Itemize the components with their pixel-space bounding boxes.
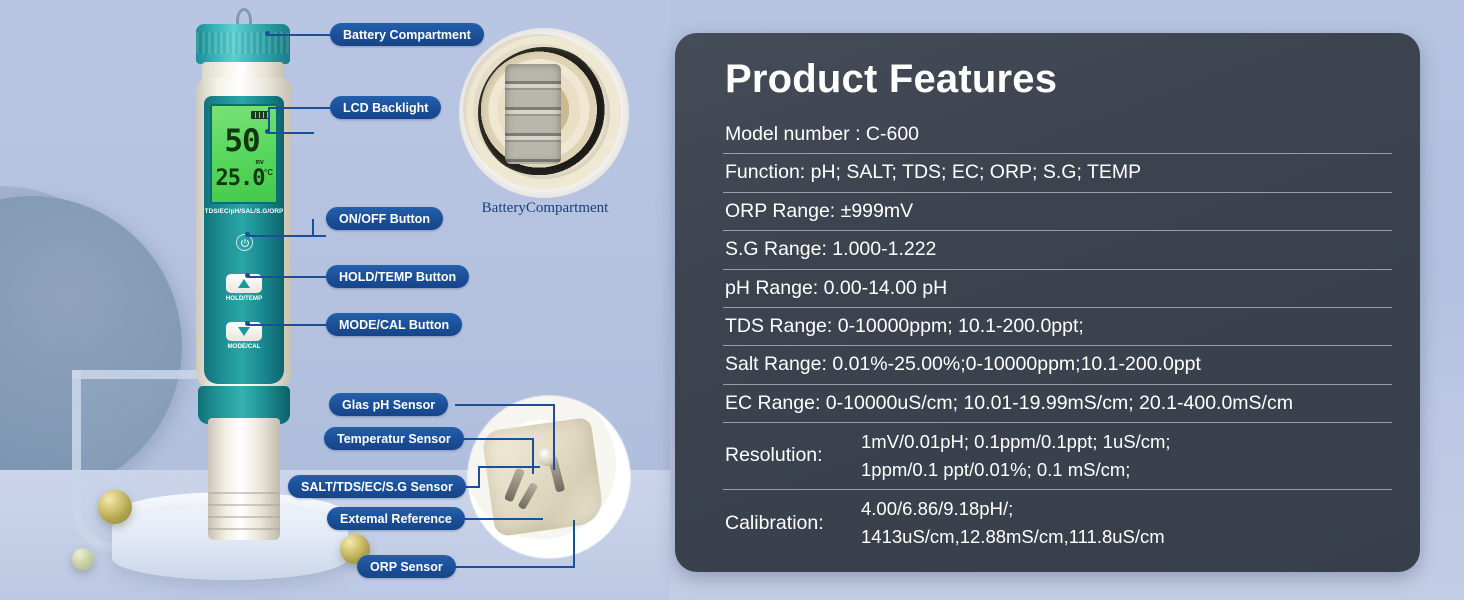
sensor-tip-photo xyxy=(468,396,630,558)
hold-temp-label: HOLD/TEMP xyxy=(204,295,284,302)
calibration-line-1: 4.00/6.86/9.18pH/; xyxy=(861,497,1165,520)
leader-line xyxy=(455,518,543,520)
spec-text: TDS Range: 0-10000ppm; 10.1-200.0ppt; xyxy=(725,314,1084,338)
mode-strip-label: TDS/EC/pH/SAL/S.G/ORP xyxy=(204,208,284,215)
spec-text: Salt Range: 0.01%-25.00%;0-10000ppm;10.1… xyxy=(725,352,1201,376)
leader-line xyxy=(478,466,480,488)
leader-line xyxy=(248,276,326,278)
spec-row-sg-range: S.G Range: 1.000-1.222 xyxy=(723,231,1392,269)
spec-row-tds-range: TDS Range: 0-10000ppm; 10.1-200.0ppt; xyxy=(723,308,1392,346)
leader-line xyxy=(248,235,326,237)
spec-row-calibration: Calibration: 4.00/6.86/9.18pH/; 1413uS/c… xyxy=(723,490,1392,556)
resolution-label: Resolution: xyxy=(725,443,853,467)
callout-lcd-backlight[interactable]: LCD Backlight xyxy=(330,96,441,119)
callout-mode-cal-button[interactable]: MODE/CAL Button xyxy=(326,313,462,336)
leader-line xyxy=(312,219,314,236)
leader-line xyxy=(268,132,314,134)
battery-cap xyxy=(196,24,290,64)
product-features-panel: Product Features Model number : C-600 Fu… xyxy=(675,33,1420,572)
leader-line xyxy=(455,438,533,440)
lcd-degree-symbol: °C xyxy=(264,168,273,177)
battery-thread-ring xyxy=(467,36,621,190)
battery-compartment-caption: BatteryCompartment xyxy=(440,200,650,217)
leader-line xyxy=(573,520,575,567)
callout-battery-compartment[interactable]: Battery Compartment xyxy=(330,23,484,46)
leader-dot xyxy=(245,321,250,326)
callout-temperature-sensor[interactable]: Temperatur Sensor xyxy=(324,427,464,450)
triangle-down-icon xyxy=(238,327,250,336)
leader-line xyxy=(248,324,326,326)
probe-shaft xyxy=(208,418,280,498)
spec-row-ph-range: pH Range: 0.00-14.00 pH xyxy=(723,270,1392,308)
resolution-line-2: 1ppm/0.1 ppt/0.01%; 0.1 mS/cm; xyxy=(861,458,1171,481)
spec-text: S.G Range: 1.000-1.222 xyxy=(725,237,936,261)
leader-line xyxy=(455,404,555,406)
calibration-value: 4.00/6.86/9.18pH/; 1413uS/cm,12.88mS/cm,… xyxy=(861,497,1165,548)
calibration-line-2: 1413uS/cm,12.88mS/cm,111.8uS/cm xyxy=(861,525,1165,548)
lcd-main-value: 50 xyxy=(212,126,272,157)
callout-glass-ph-sensor[interactable]: Glas pH Sensor xyxy=(329,393,448,416)
spec-text: Model number : C-600 xyxy=(725,122,919,146)
mode-cal-label: MODE/CAL xyxy=(204,343,284,350)
callout-hold-temp-button[interactable]: HOLD/TEMP Button xyxy=(326,265,469,288)
callout-orp-sensor[interactable]: ORP Sensor xyxy=(357,555,456,578)
gold-sphere-prop xyxy=(98,490,132,524)
callout-on-off-button[interactable]: ON/OFF Button xyxy=(326,207,443,230)
triangle-up-icon xyxy=(238,279,250,288)
spec-row-function: Function: pH; SALT; TDS; EC; ORP; S.G; T… xyxy=(723,154,1392,192)
infographic-canvas: 50 mv 25.0 °C TDS/EC/pH/SAL/S.G/ORP HOLD… xyxy=(0,0,1464,600)
callout-external-reference[interactable]: Extemal Reference xyxy=(327,507,465,530)
leader-dot xyxy=(265,31,270,36)
leader-line xyxy=(268,34,330,36)
spec-text: pH Range: 0.00-14.00 pH xyxy=(725,276,947,300)
leader-line xyxy=(455,566,575,568)
spec-row-resolution: Resolution: 1mV/0.01pH; 0.1ppm/0.1ppt; 1… xyxy=(723,423,1392,490)
leader-line xyxy=(478,466,540,468)
spec-text: ORP Range: ±999mV xyxy=(725,199,913,223)
leader-line xyxy=(532,438,534,474)
lcd-unit: mv xyxy=(256,158,264,166)
leader-dot xyxy=(245,273,250,278)
calibration-label: Calibration: xyxy=(725,511,853,535)
battery-compartment-photo xyxy=(459,28,629,198)
gold-sphere-prop xyxy=(72,548,94,570)
spec-row-model: Model number : C-600 xyxy=(723,116,1392,154)
leader-dot xyxy=(265,129,270,134)
spec-text: Function: pH; SALT; TDS; EC; ORP; S.G; T… xyxy=(725,160,1141,184)
lcd-temperature: 25.0 xyxy=(212,168,268,190)
resolution-line-1: 1mV/0.01pH; 0.1ppm/0.1ppt; 1uS/cm; xyxy=(861,430,1171,453)
leader-dot xyxy=(245,232,250,237)
spec-text: EC Range: 0-10000uS/cm; 10.01-19.99mS/cm… xyxy=(725,391,1293,415)
resolution-value: 1mV/0.01pH; 0.1ppm/0.1ppt; 1uS/cm; 1ppm/… xyxy=(861,430,1171,481)
leader-line xyxy=(553,404,555,470)
page-title: Product Features xyxy=(725,57,1392,102)
spec-row-orp-range: ORP Range: ±999mV xyxy=(723,193,1392,231)
probe-cover xyxy=(208,492,280,540)
spec-row-salt-range: Salt Range: 0.01%-25.00%;0-10000ppm;10.1… xyxy=(723,346,1392,384)
spec-row-ec-range: EC Range: 0-10000uS/cm; 10.01-19.99mS/cm… xyxy=(723,385,1392,423)
product-scene: 50 mv 25.0 °C TDS/EC/pH/SAL/S.G/ORP HOLD… xyxy=(0,0,670,600)
callout-salt-tds-ec-sg-sensor[interactable]: SALT/TDS/EC/S.G Sensor xyxy=(288,475,466,498)
leader-line xyxy=(268,107,330,109)
